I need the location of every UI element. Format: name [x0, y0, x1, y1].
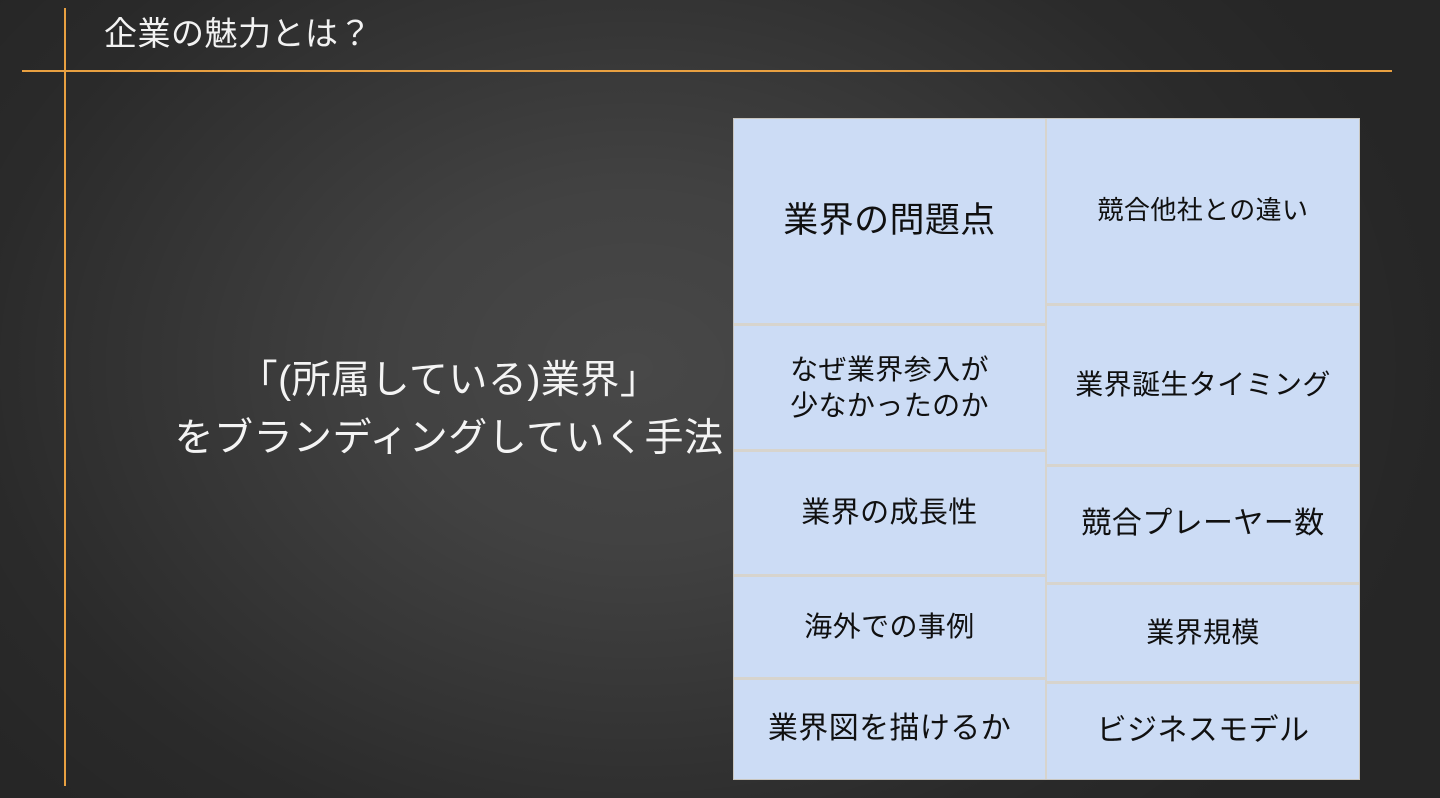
accent-line-horizontal [22, 70, 1392, 72]
matrix-cell[interactable]: 競合他社との違い [1047, 119, 1359, 303]
topic-matrix: 業界の問題点 なぜ業界参入が少なかったのか 業界の成長性 海外での事例 業界図を… [733, 118, 1360, 780]
matrix-column-right: 競合他社との違い 業界誕生タイミング 競合プレーヤー数 業界規模 ビジネスモデル [1047, 119, 1359, 779]
matrix-cell[interactable]: なぜ業界参入が少なかったのか [734, 326, 1045, 448]
matrix-column-left: 業界の問題点 なぜ業界参入が少なかったのか 業界の成長性 海外での事例 業界図を… [734, 119, 1045, 779]
page-title: 企業の魅力とは？ [104, 11, 372, 57]
main-statement: 「(所属している)業界」 をブランディングしていく手法 [104, 352, 794, 468]
matrix-cell[interactable]: 業界の成長性 [734, 452, 1045, 574]
matrix-cell[interactable]: 海外での事例 [734, 577, 1045, 677]
main-statement-line-2: をブランディングしていく手法 [104, 410, 794, 468]
matrix-cell[interactable]: 競合プレーヤー数 [1047, 467, 1359, 583]
matrix-cell[interactable]: 業界規模 [1047, 585, 1359, 681]
main-statement-line-1: 「(所属している)業界」 [104, 352, 794, 410]
presentation-slide: 企業の魅力とは？ 「(所属している)業界」 をブランディングしていく手法 業界の… [0, 0, 1440, 798]
matrix-cell[interactable]: 業界図を描けるか [734, 680, 1045, 779]
matrix-cell[interactable]: ビジネスモデル [1047, 684, 1359, 779]
accent-line-vertical [64, 8, 66, 786]
matrix-cell[interactable]: 業界誕生タイミング [1047, 306, 1359, 464]
matrix-cell[interactable]: 業界の問題点 [734, 119, 1045, 323]
